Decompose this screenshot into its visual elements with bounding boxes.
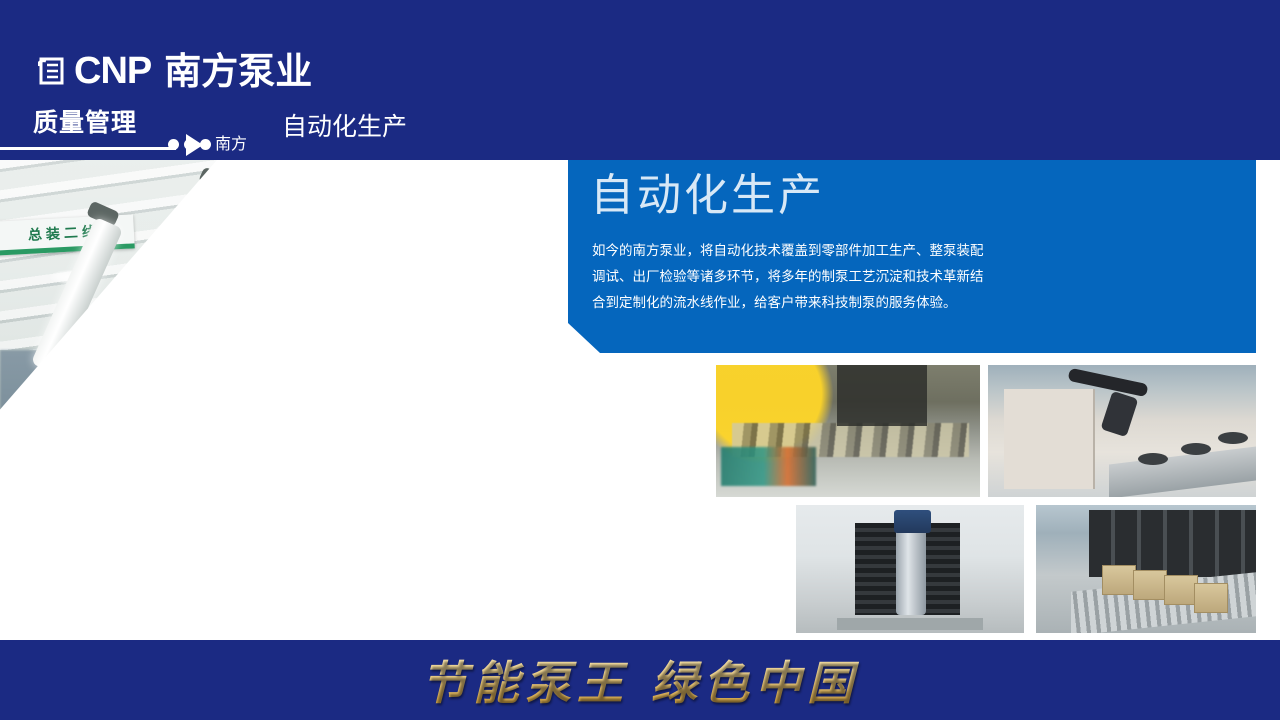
panel-description-line: 调试、出厂检验等诸多环节，将多年的制泵工艺沉淀和技术革新结 [592, 264, 1222, 290]
floor-safety-line [81, 592, 510, 640]
slide-footer: 节能泵王 绿色中国 [0, 640, 1280, 720]
panel-description-line: 合到定制化的流水线作业，给客户带来科技制泵的服务体验。 [592, 290, 1222, 316]
factory-floor [0, 440, 800, 640]
floor-highlight [0, 475, 488, 640]
breadcrumb-label[interactable]: 南方 [215, 136, 247, 152]
logo-chinese-text: 南方泵业 [164, 53, 312, 90]
nav-section-title[interactable]: 质量管理 [33, 110, 137, 135]
ceiling-light [268, 203, 312, 217]
thumbnail-parts-machining-line[interactable] [716, 365, 980, 497]
breadcrumb-dot [168, 139, 179, 150]
thumbnail-robotic-arm-conveyor[interactable] [988, 365, 1256, 497]
panel-title: 自动化生产 [590, 174, 825, 218]
nav-underline-rule [0, 147, 176, 150]
thumbnail-image [1036, 505, 1256, 633]
thumbnail-grid [716, 365, 1261, 635]
thumbnail-image [716, 365, 980, 497]
slide-header: CNP 南方泵业 质量管理 南方 自动化生产 [0, 0, 1280, 160]
presentation-slide: CNP 南方泵业 质量管理 南方 自动化生产 [0, 0, 1280, 720]
company-logo: CNP 南方泵业 [38, 52, 312, 90]
panel-description-line: 如今的南方泵业，将自动化技术覆盖到零部件加工生产、整泵装配 [592, 238, 1222, 264]
thumbnail-vertical-pump-testing[interactable] [796, 505, 1024, 633]
slide-body: 总装二线 [0, 160, 1280, 640]
nav-current-page-title[interactable]: 自动化生产 [282, 114, 407, 139]
panel-description: 如今的南方泵业，将自动化技术覆盖到零部件加工生产、整泵装配 调试、出厂检验等诸多… [592, 238, 1222, 316]
thumbnail-packaged-goods-conveyor[interactable] [1036, 505, 1256, 633]
cnp-logo-mark-icon [38, 56, 65, 86]
logo-latin-text: CNP [74, 52, 151, 90]
thumbnail-image [796, 505, 1024, 633]
thumbnail-image [988, 365, 1256, 497]
footer-slogan: 节能泵王 绿色中国 [0, 640, 1280, 720]
content-panel: 自动化生产 如今的南方泵业，将自动化技术覆盖到零部件加工生产、整泵装配 调试、出… [568, 160, 1256, 353]
background-machinery [0, 350, 800, 490]
breadcrumb-arrow-icon [186, 134, 203, 156]
